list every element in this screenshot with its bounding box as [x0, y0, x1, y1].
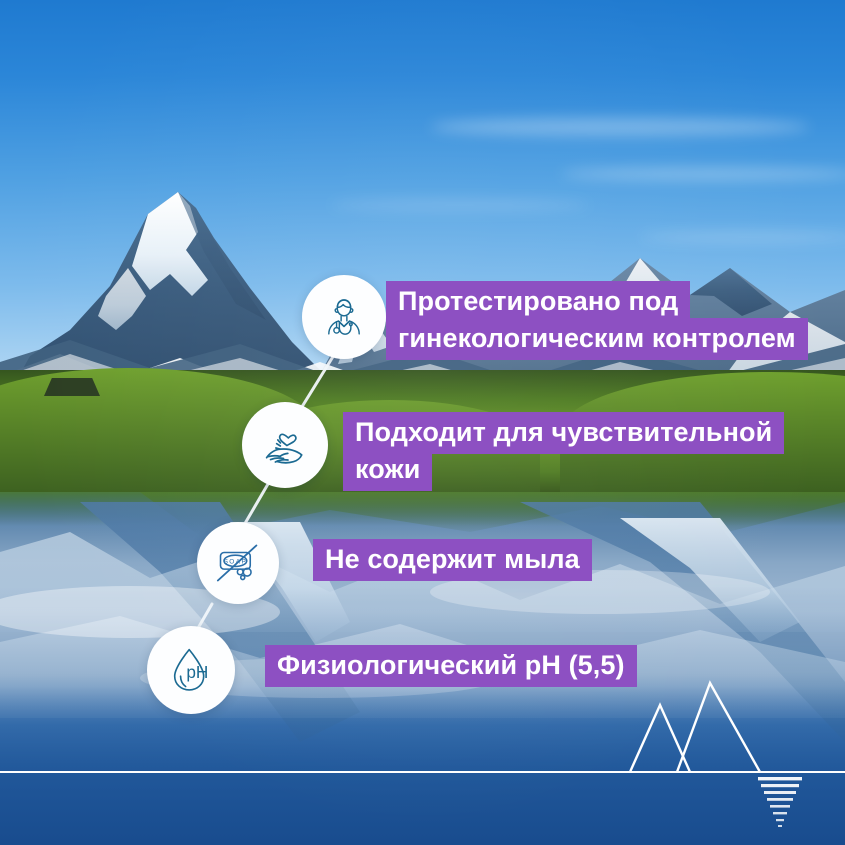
ph-droplet-icon: pH: [162, 641, 220, 699]
claim-text-no-soap: Не содержит мыла: [313, 541, 613, 578]
no-soap-icon: SOAP: [210, 535, 266, 591]
claim-highlight: Не содержит мыла: [313, 539, 592, 581]
doctor-stethoscope-icon: [317, 290, 371, 344]
bubble-no-soap[interactable]: SOAP: [197, 522, 279, 604]
bubble-doctor[interactable]: [302, 275, 386, 359]
claim-text-sensitive-skin: Подходит для чувствительной кожи: [343, 414, 823, 487]
claim-highlight: Протестировано под гинекологическим конт…: [386, 281, 808, 360]
claim-text-gynecological: Протестировано под гинекологическим конт…: [386, 283, 845, 356]
claim-highlight: Подходит для чувствительной кожи: [343, 412, 784, 491]
hand-heart-icon: [257, 417, 313, 473]
claim-highlight: Физиологический pH (5,5): [265, 645, 637, 687]
claim-text-ph: Физиологический pH (5,5): [265, 647, 685, 684]
infographic-canvas: SOAP pH Протестировано под гинекологичес…: [0, 0, 845, 845]
bubble-ph[interactable]: pH: [147, 626, 235, 714]
bubble-sensitive-skin[interactable]: [242, 402, 328, 488]
svg-text:pH: pH: [186, 662, 208, 682]
